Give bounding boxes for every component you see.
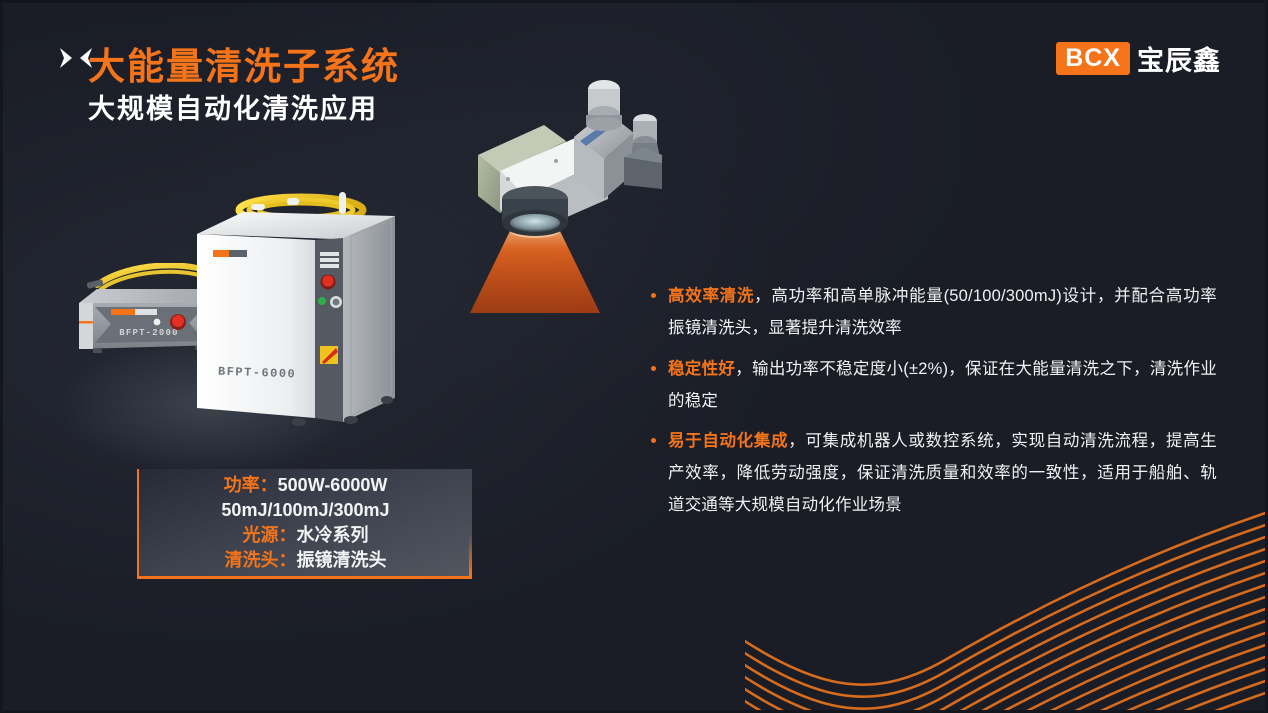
brand-logo: BCX 宝辰鑫 [1056,39,1221,78]
bullet-highlight: 高效率清洗 [668,287,754,305]
list-item: 稳定性好，输出功率不稳定度小(±2%)，保证在大能量清洗之下，清洗作业的稳定 [651,354,1217,418]
bullet-highlight: 稳定性好 [668,360,735,378]
logo-chinese-name: 宝辰鑫 [1137,39,1221,78]
logo-badge-bcx: BCX [1056,42,1130,76]
bullet-dot-icon [651,366,656,371]
spec-label: 光源： [243,525,297,545]
bullet-text: 稳定性好，输出功率不稳定度小(±2%)，保证在大能量清洗之下，清洗作业的稳定 [668,354,1217,418]
spec-label: 功率： [224,475,278,495]
spec-label: 清洗头： [225,550,297,570]
page-title: 大能量清洗子系统 [88,46,400,87]
svg-text:BFPT-6000: BFPT-6000 [218,365,297,382]
spec-row: 光源：水冷系列 [243,523,369,547]
bullet-text: 易于自动化集成，可集成机器人或数控系统，实现自动清洗流程，提高生产效率，降低劳动… [668,426,1217,522]
title-block: 大能量清洗子系统 大规模自动化清洗应用 [88,46,400,126]
spec-row: 功率：500W-6000W [224,473,388,497]
page-subtitle: 大规模自动化清洗应用 [88,93,400,125]
spec-row: 清洗头：振镜清洗头 [225,548,387,572]
svg-text:BFPT-2000: BFPT-2000 [119,328,178,338]
specification-box: 功率：500W-6000W 50mJ/100mJ/300mJ 光源：水冷系列 清… [137,469,472,579]
spec-row: 50mJ/100mJ/300mJ [221,498,389,522]
spec-value: 水冷系列 [297,525,369,545]
list-item: 易于自动化集成，可集成机器人或数控系统，实现自动清洗流程，提高生产效率，降低劳动… [651,426,1217,522]
bullet-text: 高效率清洗，高功率和高单脉冲能量(50/100/300mJ)设计，并配合高功率振… [668,281,1217,345]
spec-value: 振镜清洗头 [297,550,387,570]
product-image-group: BFPT-2000 [23,168,443,458]
bullet-dot-icon [651,438,656,443]
feature-bullet-list: 高效率清洗，高功率和高单脉冲能量(50/100/300mJ)设计，并配合高功率振… [651,281,1217,531]
slide-root: 大能量清洗子系统 大规模自动化清洗应用 BCX 宝辰鑫 [0,0,1268,713]
galvo-cleaning-head [448,63,683,313]
list-item: 高效率清洗，高功率和高单脉冲能量(50/100/300mJ)设计，并配合高功率振… [651,281,1217,345]
spec-value: 50mJ/100mJ/300mJ [221,500,389,520]
bullet-highlight: 易于自动化集成 [668,432,788,450]
bullet-dot-icon [651,293,656,298]
bullet-body: ，输出功率不稳定度小(±2%)，保证在大能量清洗之下，清洗作业的稳定 [668,360,1217,410]
spec-value: 500W-6000W [278,475,388,495]
laser-cabinet-bfpt-6000: BFPT-6000 [191,186,401,426]
corner-stripe-decoration [745,510,1265,710]
